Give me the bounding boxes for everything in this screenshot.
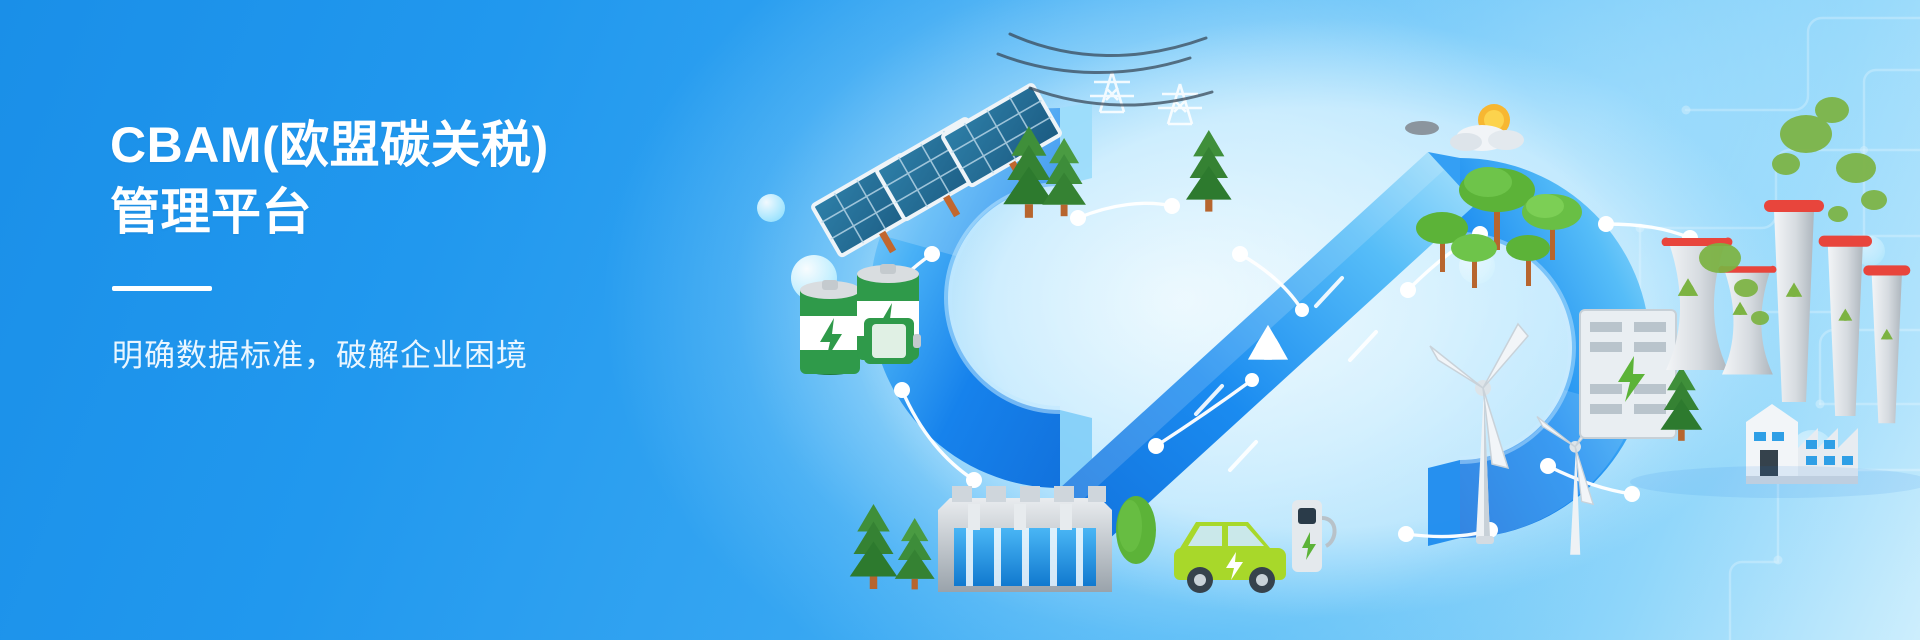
page-title: CBAM(欧盟碳关税) 管理平台	[110, 112, 810, 246]
hero-subtitle: 明确数据标准，破解企业困境	[112, 335, 810, 377]
hydro-dam-icon	[938, 486, 1112, 592]
broadleaf-tree-icon	[1116, 496, 1156, 564]
hero-copy: CBAM(欧盟碳关税) 管理平台 明确数据标准，破解企业困境	[110, 112, 810, 377]
title-divider	[112, 286, 212, 291]
cbam-hero-banner: CBAM(欧盟碳关税) 管理平台 明确数据标准，破解企业困境	[0, 0, 1920, 640]
pine-tree-icon	[850, 504, 935, 589]
ground-shadow	[1630, 466, 1920, 498]
battery-storage-icon	[800, 264, 921, 375]
carbon-neutral-illustration	[760, 18, 1920, 628]
data-center-icon	[1580, 310, 1676, 438]
